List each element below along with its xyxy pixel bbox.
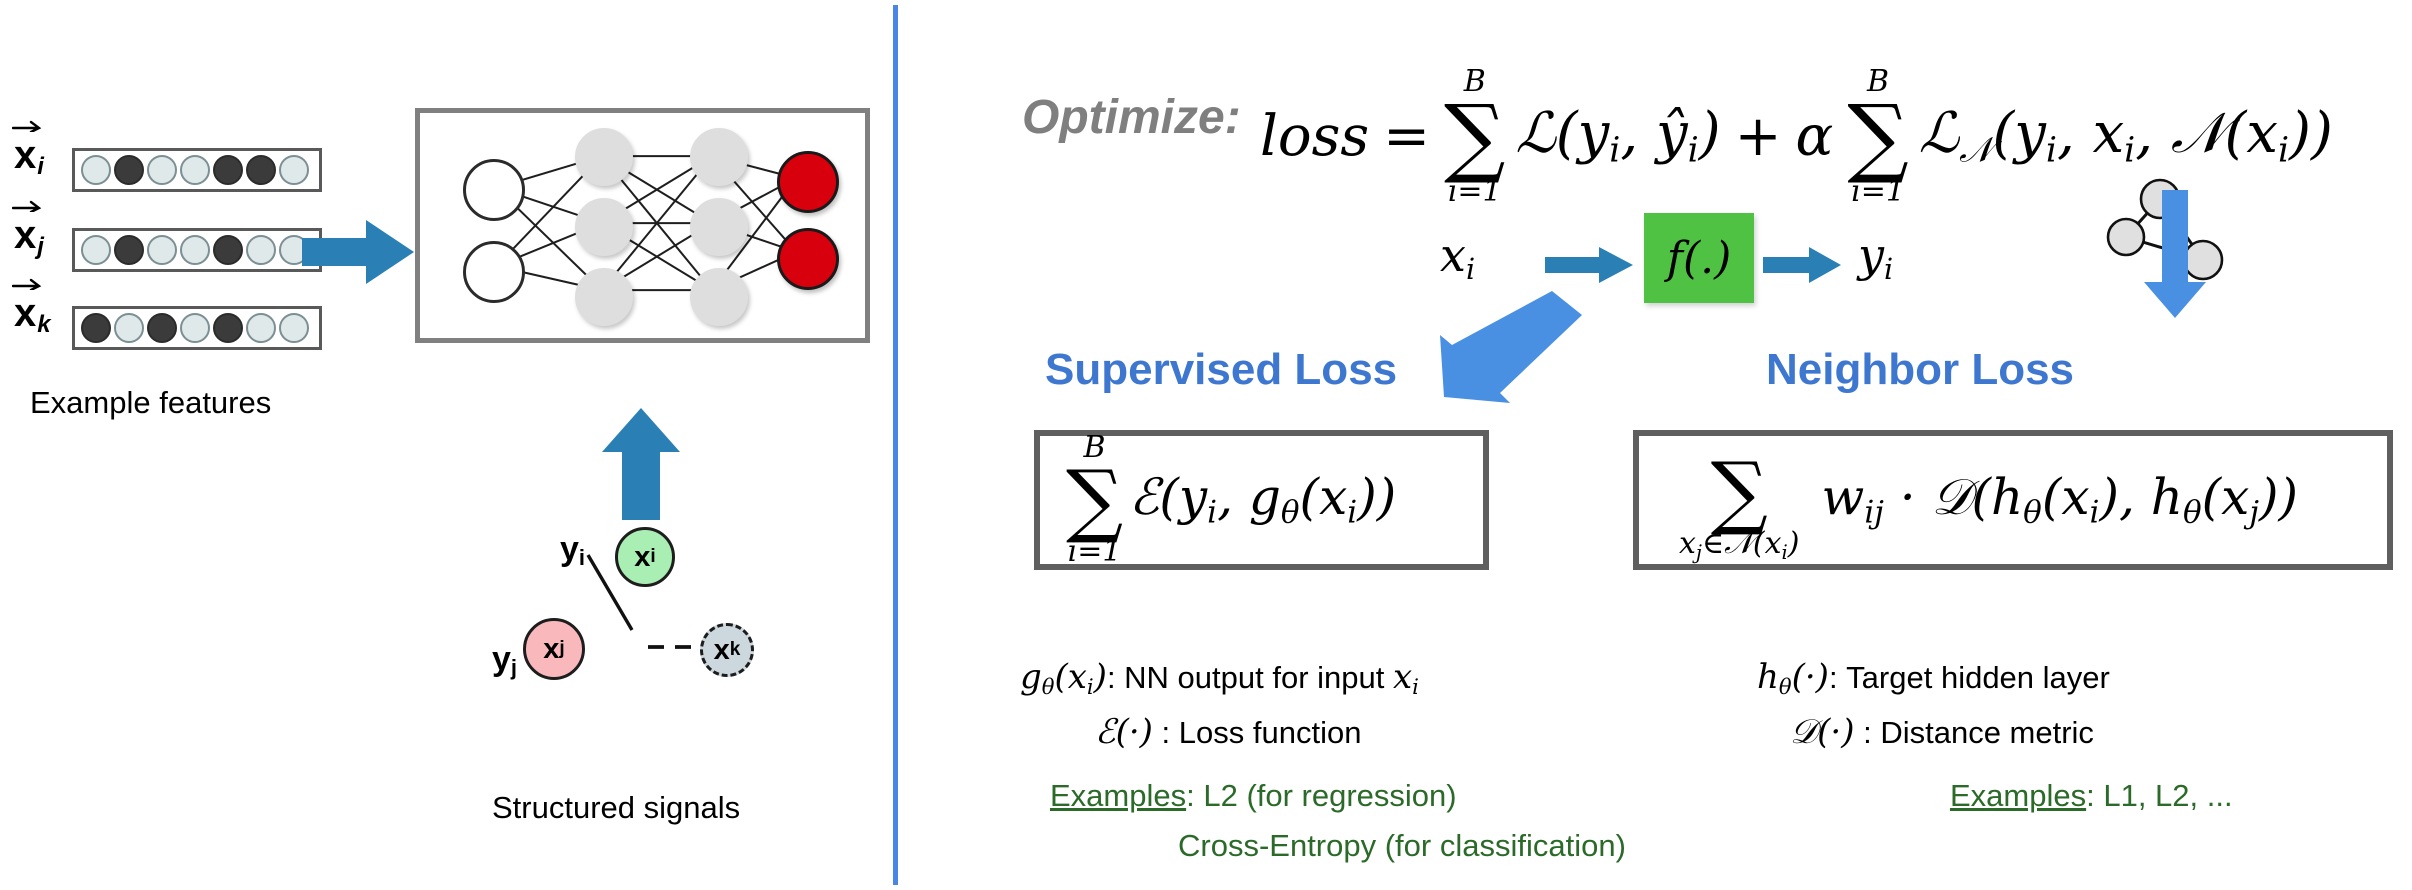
loss-lhs: loss — [1260, 109, 1369, 165]
nn-hidden-node — [575, 198, 633, 256]
feature-cell — [213, 313, 243, 343]
supervised-loss-arrow — [1430, 285, 1590, 405]
feature-cell — [213, 235, 243, 265]
supervised-legend-line-2: ℰ(·) : Loss function — [1095, 715, 1361, 751]
feature-cell — [114, 235, 144, 265]
neighbor-examples-line-1: Examples: L1, L2, ... — [1950, 778, 2233, 814]
example-features-caption: Example features — [30, 385, 271, 421]
graph-label-yi-sub: i — [579, 545, 585, 570]
feature-vector-label-i: xi — [14, 135, 44, 179]
feature-cell — [81, 235, 111, 265]
feature-cell — [213, 155, 243, 185]
plus-sign: + — [1735, 109, 1782, 165]
feature-vector-label-j: xj — [14, 215, 44, 259]
feature-vector-subscript-k: k — [37, 311, 50, 338]
summation-1: B ∑ i=1 — [1444, 68, 1505, 207]
feature-cell — [246, 313, 276, 343]
feature-vector-box-i — [72, 148, 322, 192]
neighbor-term: ℒ𝒩(yi, xi, 𝒩(xi)) — [1919, 106, 2333, 168]
supervised-examples-label: Examples — [1050, 778, 1186, 813]
feature-vector-label-k: xk — [14, 293, 51, 337]
graph-label-yi: yi — [560, 530, 585, 571]
neighbor-legend-line-2: 𝒟(·) : Distance metric — [1790, 715, 2094, 751]
supervised-legend-text-2: : Loss function — [1153, 715, 1362, 750]
supervised-summation: B ∑ i=1 — [1066, 434, 1123, 567]
graph-node-xj: xj — [523, 618, 585, 680]
feature-cell — [114, 155, 144, 185]
nn-hidden-node — [690, 268, 748, 326]
graph-label-yj: yj — [492, 640, 517, 681]
feature-cell — [279, 155, 309, 185]
panel-divider — [893, 5, 898, 885]
neighbor-loss-formula: ∑ xj∈𝒩(xi) wij · 𝒟(hθ(xi), hθ(xj)) — [1639, 438, 2298, 562]
supervised-examples-line-2: Cross-Entropy (for classification) — [1178, 828, 1626, 864]
graph-node-xk-sub: k — [730, 639, 741, 661]
neighbor-loss-box: ∑ xj∈𝒩(xi) wij · 𝒟(hθ(xi), hθ(xj)) — [1633, 430, 2393, 570]
neighbor-sum-lower: xj∈𝒩(xi) — [1679, 530, 1800, 562]
neighbor-legend-text-2: : Distance metric — [1854, 715, 2093, 750]
neural-network-box — [415, 108, 870, 343]
supervised-loss-title: Supervised Loss — [1045, 345, 1397, 395]
neighbor-loss-body: wij · 𝒟(hθ(xi), hθ(xj)) — [1822, 472, 2298, 529]
graph-node-xi: xi — [615, 527, 675, 587]
nn-input-node — [463, 241, 525, 303]
nn-hidden-node — [690, 198, 748, 256]
feature-cell — [147, 313, 177, 343]
feature-cell — [180, 235, 210, 265]
function-box: f(.) — [1644, 213, 1754, 303]
feature-cell — [246, 155, 276, 185]
nn-hidden-node — [575, 128, 633, 186]
structured-signals-caption: Structured signals — [492, 790, 740, 826]
neighbor-loss-arrow — [2140, 190, 2210, 320]
feature-cell — [147, 155, 177, 185]
flow-input-label: xi — [1440, 232, 1475, 285]
nn-output-node — [777, 228, 839, 290]
graph-node-xi-sub: i — [650, 546, 655, 568]
supervised-examples-line-1: Examples: L2 (for regression) — [1050, 778, 1457, 814]
flow-output-label: yi — [1858, 232, 1893, 285]
feature-cell — [180, 313, 210, 343]
graph-node-xk: xk — [700, 623, 754, 677]
graph-node-xj-sub: j — [559, 638, 564, 660]
feature-cell — [246, 235, 276, 265]
feature-vector-box-k — [72, 306, 322, 350]
supervised-legend-line-1: gθ(xi): NN output for input xi — [1020, 660, 1419, 697]
neighbor-summation: ∑ xj∈𝒩(xi) — [1679, 438, 1800, 562]
feature-cell — [147, 235, 177, 265]
supervised-loss-body: ℰ(yi, gθ(xi)) — [1129, 472, 1396, 529]
graph-label-yj-sub: j — [511, 655, 517, 680]
features-to-network-arrow — [300, 212, 420, 292]
neighbor-legend-line-1: hθ(·): Target hidden layer — [1757, 660, 2110, 697]
supervised-legend-text-1: : NN output for input — [1107, 660, 1393, 695]
nn-hidden-node — [575, 268, 633, 326]
feature-vector-subscript-j: j — [37, 233, 44, 260]
feature-vector-subscript-i: i — [37, 153, 44, 180]
diagram-canvas: xi xj xk — [0, 0, 2412, 890]
feature-cell — [279, 313, 309, 343]
supervised-term: ℒ(yi, ŷi) — [1515, 106, 1720, 168]
supervised-example-1: L2 (for regression) — [1203, 778, 1456, 813]
feature-cell — [81, 313, 111, 343]
supervised-loss-formula: B ∑ i=1 ℰ(yi, gθ(xi)) — [1040, 434, 1396, 567]
feature-cell — [180, 155, 210, 185]
feature-cell — [81, 155, 111, 185]
supervised-example-2: Cross-Entropy (for classification) — [1178, 828, 1626, 863]
sum-2-lower: i=1 — [1851, 178, 1905, 207]
supervised-sum-lower: i=1 — [1068, 538, 1122, 567]
neighbor-loss-title: Neighbor Loss — [1766, 345, 2074, 395]
neighbor-examples-label: Examples — [1950, 778, 2086, 813]
sum-1-lower: i=1 — [1448, 178, 1502, 207]
supervised-loss-box: B ∑ i=1 ℰ(yi, gθ(xi)) — [1034, 430, 1489, 570]
flow-arrow-out — [1763, 245, 1843, 285]
function-box-label: f(.) — [1667, 233, 1732, 284]
nn-input-node — [463, 159, 525, 221]
nn-output-node — [777, 151, 839, 213]
optimize-label: Optimize: — [1022, 90, 1241, 145]
nn-hidden-node — [690, 128, 748, 186]
flow-arrow-in — [1545, 245, 1635, 285]
alpha-symbol: α — [1796, 109, 1834, 165]
signals-to-network-arrow — [596, 404, 686, 524]
neighbor-legend-text-1: : Target hidden layer — [1829, 660, 2110, 695]
feature-cell — [114, 313, 144, 343]
feature-vector-box-j — [72, 228, 322, 272]
summation-2: B ∑ i=1 — [1847, 68, 1908, 207]
neighbor-example-1: L1, L2, ... — [2103, 778, 2232, 813]
equals-sign: = — [1383, 109, 1430, 165]
